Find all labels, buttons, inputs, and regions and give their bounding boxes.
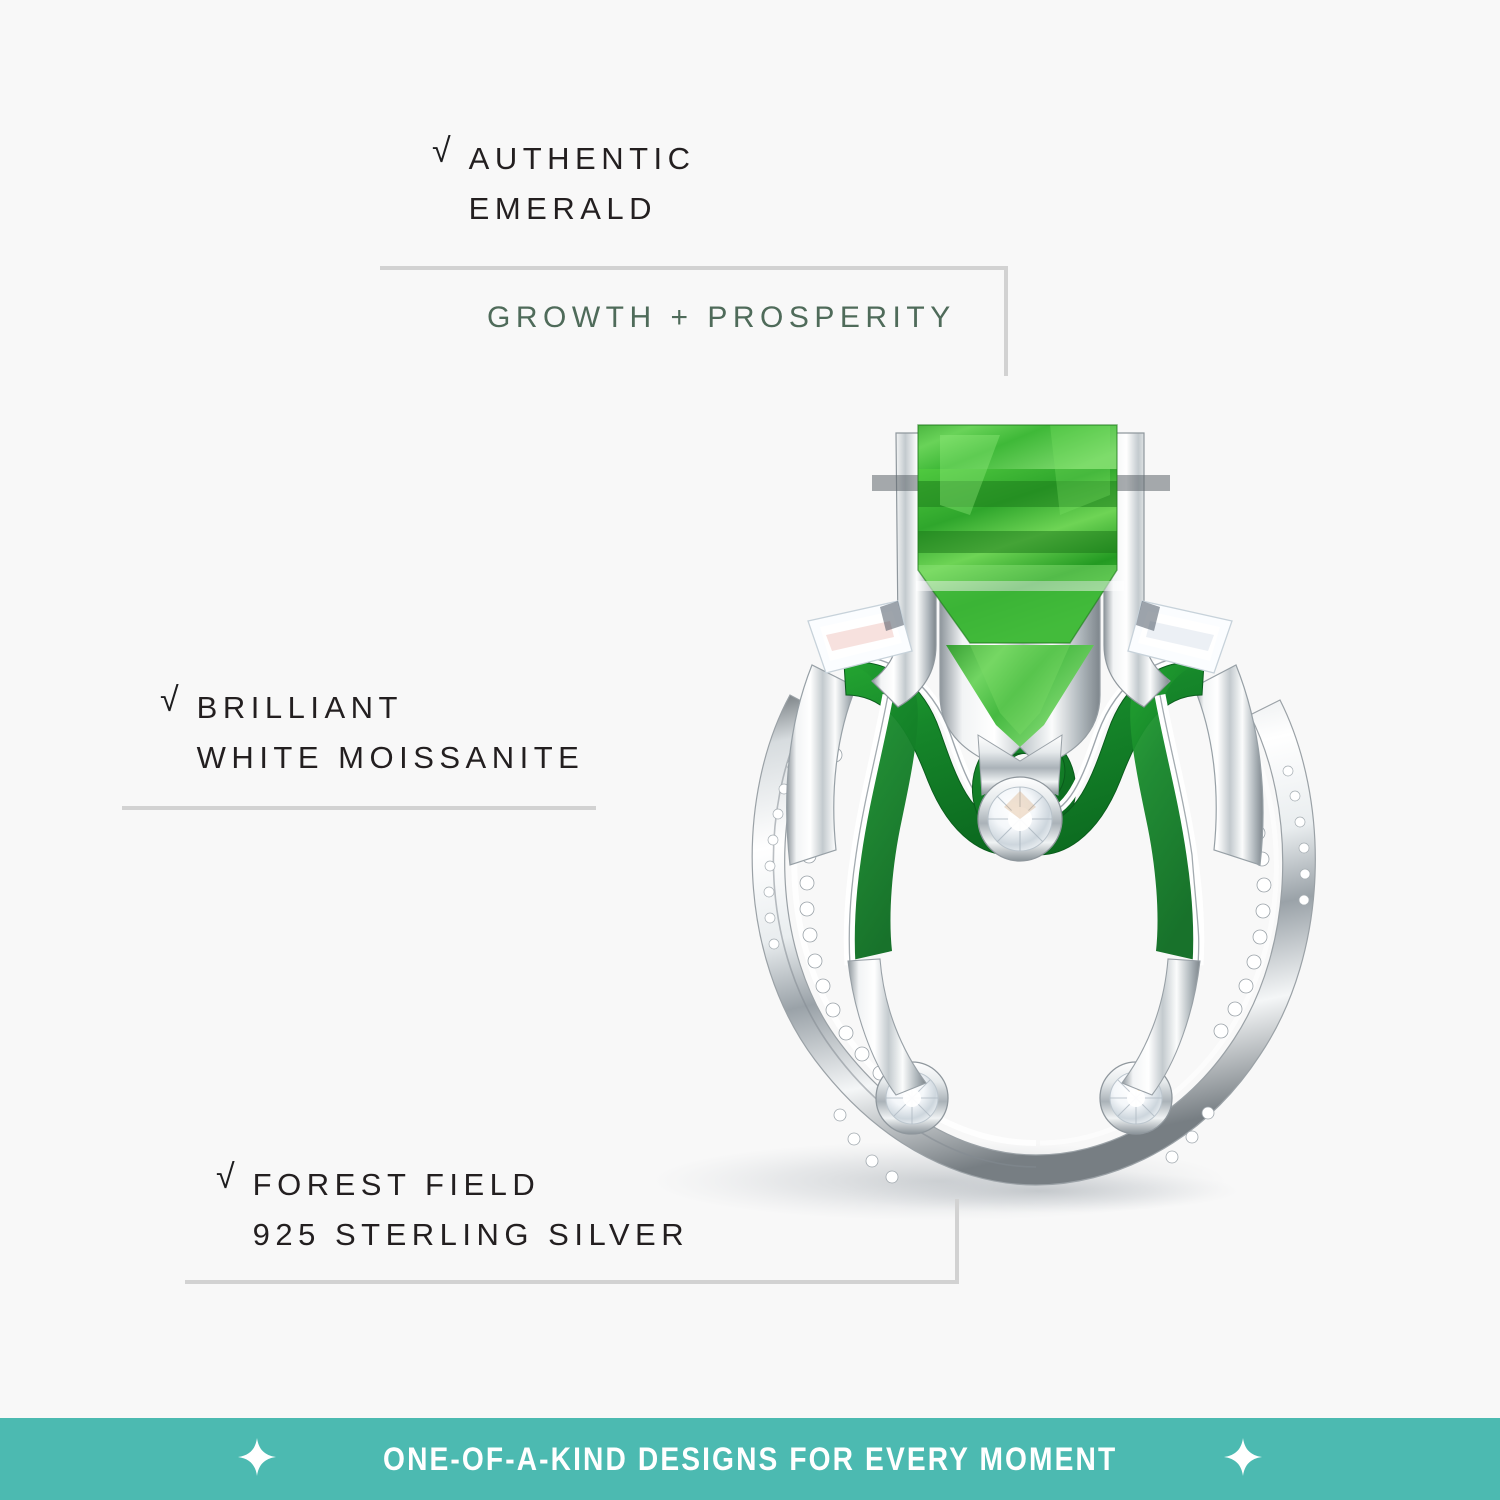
feature-label-line1: FOREST FIELD bbox=[253, 1160, 689, 1210]
feature-tagline-growth-prosperity: GROWTH + PROSPERITY bbox=[487, 301, 956, 335]
callout-3-bracket-horizontal bbox=[185, 1280, 959, 1284]
feature-label-line1: AUTHENTIC bbox=[469, 134, 696, 184]
feature-label-line2: EMERALD bbox=[469, 184, 696, 234]
feature-callout-brilliant-white-moissanite: √ BRILLIANT WHITE MOISSANITE bbox=[160, 683, 584, 783]
feature-label-line1: BRILLIANT bbox=[197, 683, 585, 733]
checkmark-icon: √ bbox=[432, 134, 451, 168]
feature-label-line2: 925 STERLING SILVER bbox=[253, 1210, 689, 1260]
product-infographic-page: √ AUTHENTIC EMERALD GROWTH + PROSPERITY … bbox=[0, 0, 1500, 1500]
callout-1-bracket-horizontal bbox=[380, 266, 1008, 270]
product-image-emerald-ring bbox=[640, 395, 1400, 1225]
feature-label-line2: WHITE MOISSANITE bbox=[197, 733, 585, 783]
footer-banner-text: ONE-OF-A-KIND DESIGNS FOR EVERY MOMENT bbox=[383, 1441, 1117, 1478]
feature-callout-forest-field-sterling-silver: √ FOREST FIELD 925 STERLING SILVER bbox=[216, 1160, 689, 1260]
feature-line-primary: √ AUTHENTIC EMERALD bbox=[432, 134, 696, 234]
callout-1-bracket-vertical bbox=[1004, 266, 1008, 376]
callout-2-divider bbox=[122, 806, 596, 810]
checkmark-icon: √ bbox=[216, 1160, 235, 1194]
sparkle-icon bbox=[237, 1437, 277, 1482]
checkmark-icon: √ bbox=[160, 683, 179, 717]
feature-callout-authentic-emerald: √ AUTHENTIC EMERALD bbox=[432, 134, 696, 234]
feature-line-primary: √ FOREST FIELD 925 STERLING SILVER bbox=[216, 1160, 689, 1260]
sparkle-icon bbox=[1223, 1437, 1263, 1482]
footer-banner: ONE-OF-A-KIND DESIGNS FOR EVERY MOMENT bbox=[0, 1418, 1500, 1500]
callout-3-bracket-vertical bbox=[955, 1199, 959, 1284]
feature-line-primary: √ BRILLIANT WHITE MOISSANITE bbox=[160, 683, 584, 783]
